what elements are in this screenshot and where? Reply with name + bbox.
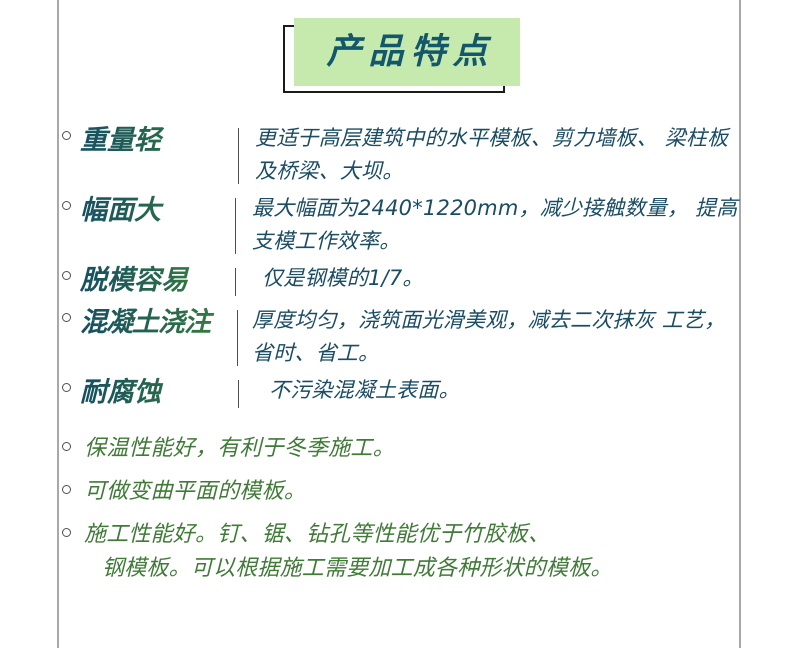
feature-body-line: 更适于高层建筑中的水平模板、剪力墙板、 [255, 126, 658, 150]
bullet-column [62, 122, 80, 140]
left-margin-rule [57, 0, 59, 648]
feature-label: 混凝土浇注 [80, 304, 253, 342]
feature-list: 重量轻 更适于高层建筑中的水平模板、剪力墙板、 梁柱板及桥梁、大坝。 幅面大 最… [62, 122, 742, 416]
feature-body: 厚度均匀，浇筑面光滑美观，减去二次抹灰 工艺，省时、省工。 [238, 304, 742, 370]
bullet-column [62, 475, 80, 494]
note-text: 可做变曲平面的模板。 [80, 475, 752, 509]
feature-label: 脱模容易 [80, 262, 235, 300]
note-text: 保温性能好，有利于冬季施工。 [80, 432, 752, 466]
feature-body: 更适于高层建筑中的水平模板、剪力墙板、 梁柱板及桥梁、大坝。 [239, 122, 742, 188]
circle-bullet-icon [62, 528, 71, 537]
feature-body: 仅是钢模的1/7。 [236, 262, 742, 295]
feature-row: 混凝土浇注 厚度均匀，浇筑面光滑美观，减去二次抹灰 工艺，省时、省工。 [62, 304, 742, 370]
note-line-1: 可做变曲平面的模板。 [84, 479, 306, 504]
feature-body: 最大幅面为2440*1220mm，减少接触数量， 提高支模工作效率。 [236, 192, 742, 258]
feature-body-line: 不污染混凝土表面。 [269, 378, 460, 402]
bullet-column [62, 518, 80, 537]
bullet-column [62, 432, 80, 451]
product-features-page: 产品特点 重量轻 更适于高层建筑中的水平模板、剪力墙板、 梁柱板及桥梁、大坝。 … [0, 0, 800, 648]
circle-bullet-icon [62, 131, 71, 140]
note-line-1: 施工性能好。钉、锯、钻孔等性能优于竹胶板、 [84, 522, 550, 547]
bullet-column [62, 374, 80, 392]
feature-body-line: 仅是钢模的1/7。 [262, 266, 424, 290]
feature-row: 重量轻 更适于高层建筑中的水平模板、剪力墙板、 梁柱板及桥梁、大坝。 [62, 122, 742, 188]
note-line-2: 钢模板。可以根据施工需要加工成各种形状的模板。 [84, 552, 752, 586]
title-block: 产品特点 [283, 18, 523, 96]
feature-row: 脱模容易 仅是钢模的1/7。 [62, 262, 742, 300]
note-item: 可做变曲平面的模板。 [62, 475, 752, 509]
circle-bullet-icon [62, 201, 71, 210]
page-title: 产品特点 [294, 18, 520, 86]
note-text: 施工性能好。钉、锯、钻孔等性能优于竹胶板、 钢模板。可以根据施工需要加工成各种形… [80, 518, 752, 586]
feature-body: 不污染混凝土表面。 [239, 374, 742, 407]
bullet-column [62, 262, 80, 280]
feature-row: 幅面大 最大幅面为2440*1220mm，减少接触数量， 提高支模工作效率。 [62, 192, 742, 258]
circle-bullet-icon [62, 485, 71, 494]
bullet-column [62, 304, 80, 322]
feature-body-line: 厚度均匀，浇筑面光滑美观，减去二次抹灰 [252, 308, 655, 332]
feature-label: 耐腐蚀 [80, 374, 238, 412]
feature-row: 耐腐蚀 不污染混凝土表面。 [62, 374, 742, 412]
circle-bullet-icon [62, 383, 71, 392]
circle-bullet-icon [62, 271, 71, 280]
circle-bullet-icon [62, 313, 71, 322]
feature-body-line: 最大幅面为2440*1220mm，减少接触数量， [252, 196, 688, 220]
circle-bullet-icon [62, 442, 71, 451]
feature-label: 幅面大 [80, 192, 235, 230]
feature-label: 重量轻 [80, 122, 238, 160]
bullet-column [62, 192, 80, 210]
note-item: 保温性能好，有利于冬季施工。 [62, 432, 752, 466]
note-item: 施工性能好。钉、锯、钻孔等性能优于竹胶板、 钢模板。可以根据施工需要加工成各种形… [62, 518, 752, 586]
note-line-1: 保温性能好，有利于冬季施工。 [84, 436, 395, 461]
note-list: 保温性能好，有利于冬季施工。 可做变曲平面的模板。 施工性能好。钉、锯、钻孔等性… [62, 432, 752, 595]
